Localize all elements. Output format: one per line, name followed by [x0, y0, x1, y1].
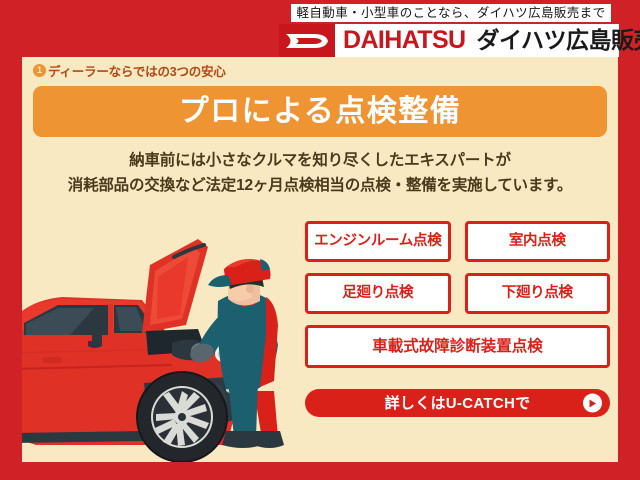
inspection-item-underbody[interactable]: 下廻り点検	[465, 273, 611, 314]
mechanic-inspecting-car-illustration	[22, 205, 312, 462]
brand-japanese-name: ダイハツ広島販売	[477, 29, 640, 52]
play-arrow-icon	[583, 394, 602, 413]
lead-line-2: 消耗部品の交換など法定12ヶ月点検相当の点検・整備を実施しています。	[22, 173, 618, 198]
daihatsu-d-mark-icon	[279, 24, 335, 57]
inspection-items-grid: エンジンルーム点検 室内点検 足廻り点検 下廻り点検 車載式故障診断装置点検	[305, 221, 610, 379]
section-eyebrow: 1 ディーラーならではの3つの安心	[33, 61, 226, 80]
inspection-item-interior[interactable]: 室内点検	[465, 221, 611, 262]
lead-paragraph: 納車前には小さなクルマを知り尽くしたエキスパートが 消耗部品の交換など法定12ヶ…	[22, 148, 618, 198]
inspection-item-label: 下廻り点検	[502, 286, 573, 301]
inspection-row-2: 足廻り点検 下廻り点検	[305, 273, 610, 314]
brand-header: 軽自動車・小型車のことなら、ダイハツ広島販売まで DAIHATSU ダイハツ広島…	[0, 0, 640, 57]
section-title-banner: プロによる点検整備	[33, 86, 607, 137]
inspection-item-label: 車載式故障診断装置点検	[372, 339, 543, 355]
header-tagline-bar: 軽自動車・小型車のことなら、ダイハツ広島販売まで	[291, 4, 611, 22]
header-tagline: 軽自動車・小型車のことなら、ダイハツ広島販売まで	[297, 7, 606, 20]
section-title: プロによる点検整備	[179, 97, 462, 127]
inspection-item-label: 室内点検	[509, 234, 566, 249]
brand-latin-name: DAIHATSU	[343, 28, 466, 53]
advertisement-screen: 軽自動車・小型車のことなら、ダイハツ広島販売まで DAIHATSU ダイハツ広島…	[0, 0, 640, 480]
u-catch-cta-button[interactable]: 詳しくはU-CATCHで	[305, 389, 610, 417]
inspection-row-3: 車載式故障診断装置点検	[305, 325, 610, 368]
inspection-item-label: 足廻り点検	[342, 286, 413, 301]
inspection-item-label: エンジンルーム点検	[314, 234, 441, 249]
cta-label: 詳しくはU-CATCHで	[385, 396, 531, 411]
section-eyebrow-label: ディーラーならではの3つの安心	[48, 61, 226, 80]
content-panel: 1 ディーラーならではの3つの安心 プロによる点検整備 納車前には小さなクルマを…	[22, 57, 618, 462]
brand-logo-bar: DAIHATSU ダイハツ広島販売	[279, 24, 619, 57]
inspection-item-obd-diagnostics[interactable]: 車載式故障診断装置点検	[305, 325, 610, 368]
section-number-badge: 1	[33, 64, 46, 77]
inspection-item-suspension[interactable]: 足廻り点検	[305, 273, 451, 314]
lead-line-1: 納車前には小さなクルマを知り尽くしたエキスパートが	[22, 148, 618, 173]
inspection-item-engine-room[interactable]: エンジンルーム点検	[305, 221, 451, 262]
inspection-row-1: エンジンルーム点検 室内点検	[305, 221, 610, 262]
